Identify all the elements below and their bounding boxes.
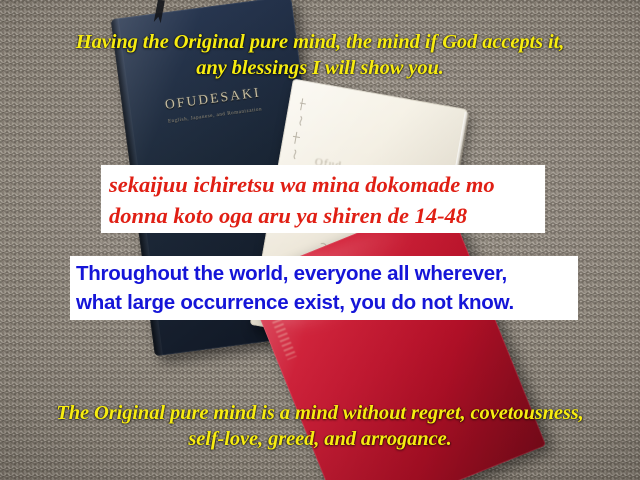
- translation-textbox: Throughout the world, everyone all where…: [70, 256, 578, 320]
- translation-line-1: Throughout the world, everyone all where…: [76, 259, 572, 288]
- romaji-line-1: sekaijuu ichiretsu wa mina dokomade mo: [109, 169, 537, 200]
- translation-line-2: what large occurrence exist, you do not …: [76, 288, 572, 317]
- slide-canvas: OFUDESAKI English, Japanese, and Romaniz…: [0, 0, 640, 480]
- top-caption-text: Having the Original pure mind, the mind …: [0, 29, 640, 81]
- romaji-line-2: donna koto oga aru ya shiren de 14-48: [109, 200, 537, 231]
- bottom-caption-text: The Original pure mind is a mind without…: [0, 400, 640, 452]
- romaji-verse-textbox: sekaijuu ichiretsu wa mina dokomade mo d…: [101, 165, 545, 233]
- bookmark-ribbon-icon: [150, 0, 184, 28]
